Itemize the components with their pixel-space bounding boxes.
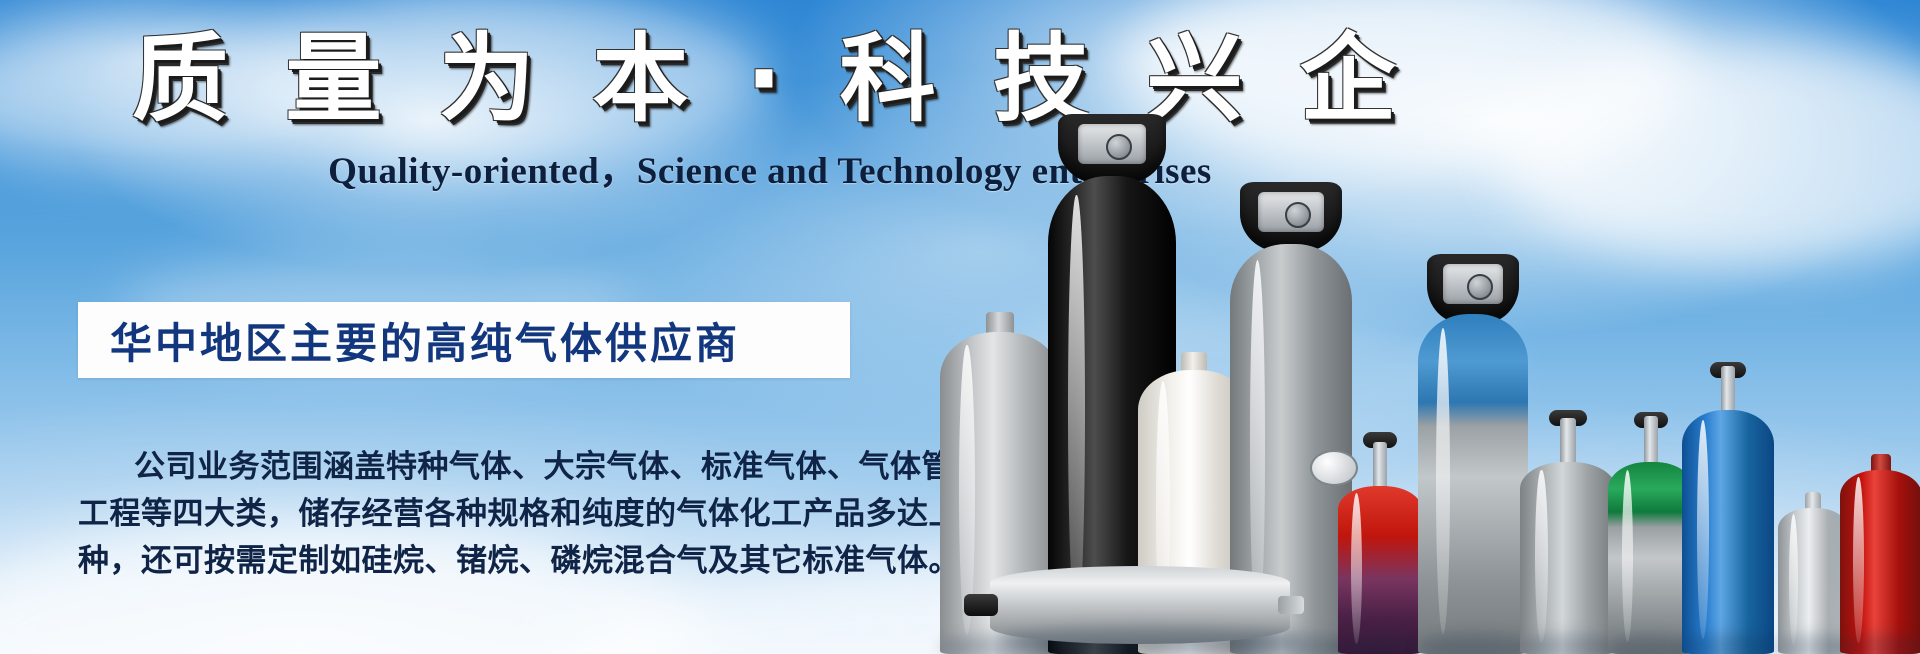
tagline-text: 华中地区主要的高纯气体供应商 [78,310,740,371]
paragraph-line: 工程等四大类，储存经营各种规格和纯度的气体化工产品多达上百 [78,490,878,537]
pressure-gauge [1310,450,1358,486]
cylinder-aluminium-small [1778,494,1848,654]
cylinder-red-right [1840,454,1920,654]
banner-paragraph: 公司业务范围涵盖特种气体、大宗气体、标准气体、气体管道 工程等四大类，储存经营各… [78,443,878,584]
cylinder-lying-horizontal [990,566,1290,644]
promo-banner: 质 量 为 本 · 科 技 兴 企 Quality-oriented，Scien… [0,0,1920,654]
paragraph-line: 种，还可按需定制如硅烷、锗烷、磷烷混合气及其它标准气体。 [78,537,878,584]
cylinder-grey-mid [1520,402,1616,654]
tagline-box: 华中地区主要的高纯气体供应商 [78,302,850,378]
paragraph-line: 公司业务范围涵盖特种气体、大宗气体、标准气体、气体管道 [78,443,878,490]
gas-cylinder-group [940,0,1920,654]
cylinder-red-purple-small [1338,424,1422,654]
cylinder-blue-silver [1418,254,1528,654]
cylinder-blue-tall-right [1682,354,1774,654]
